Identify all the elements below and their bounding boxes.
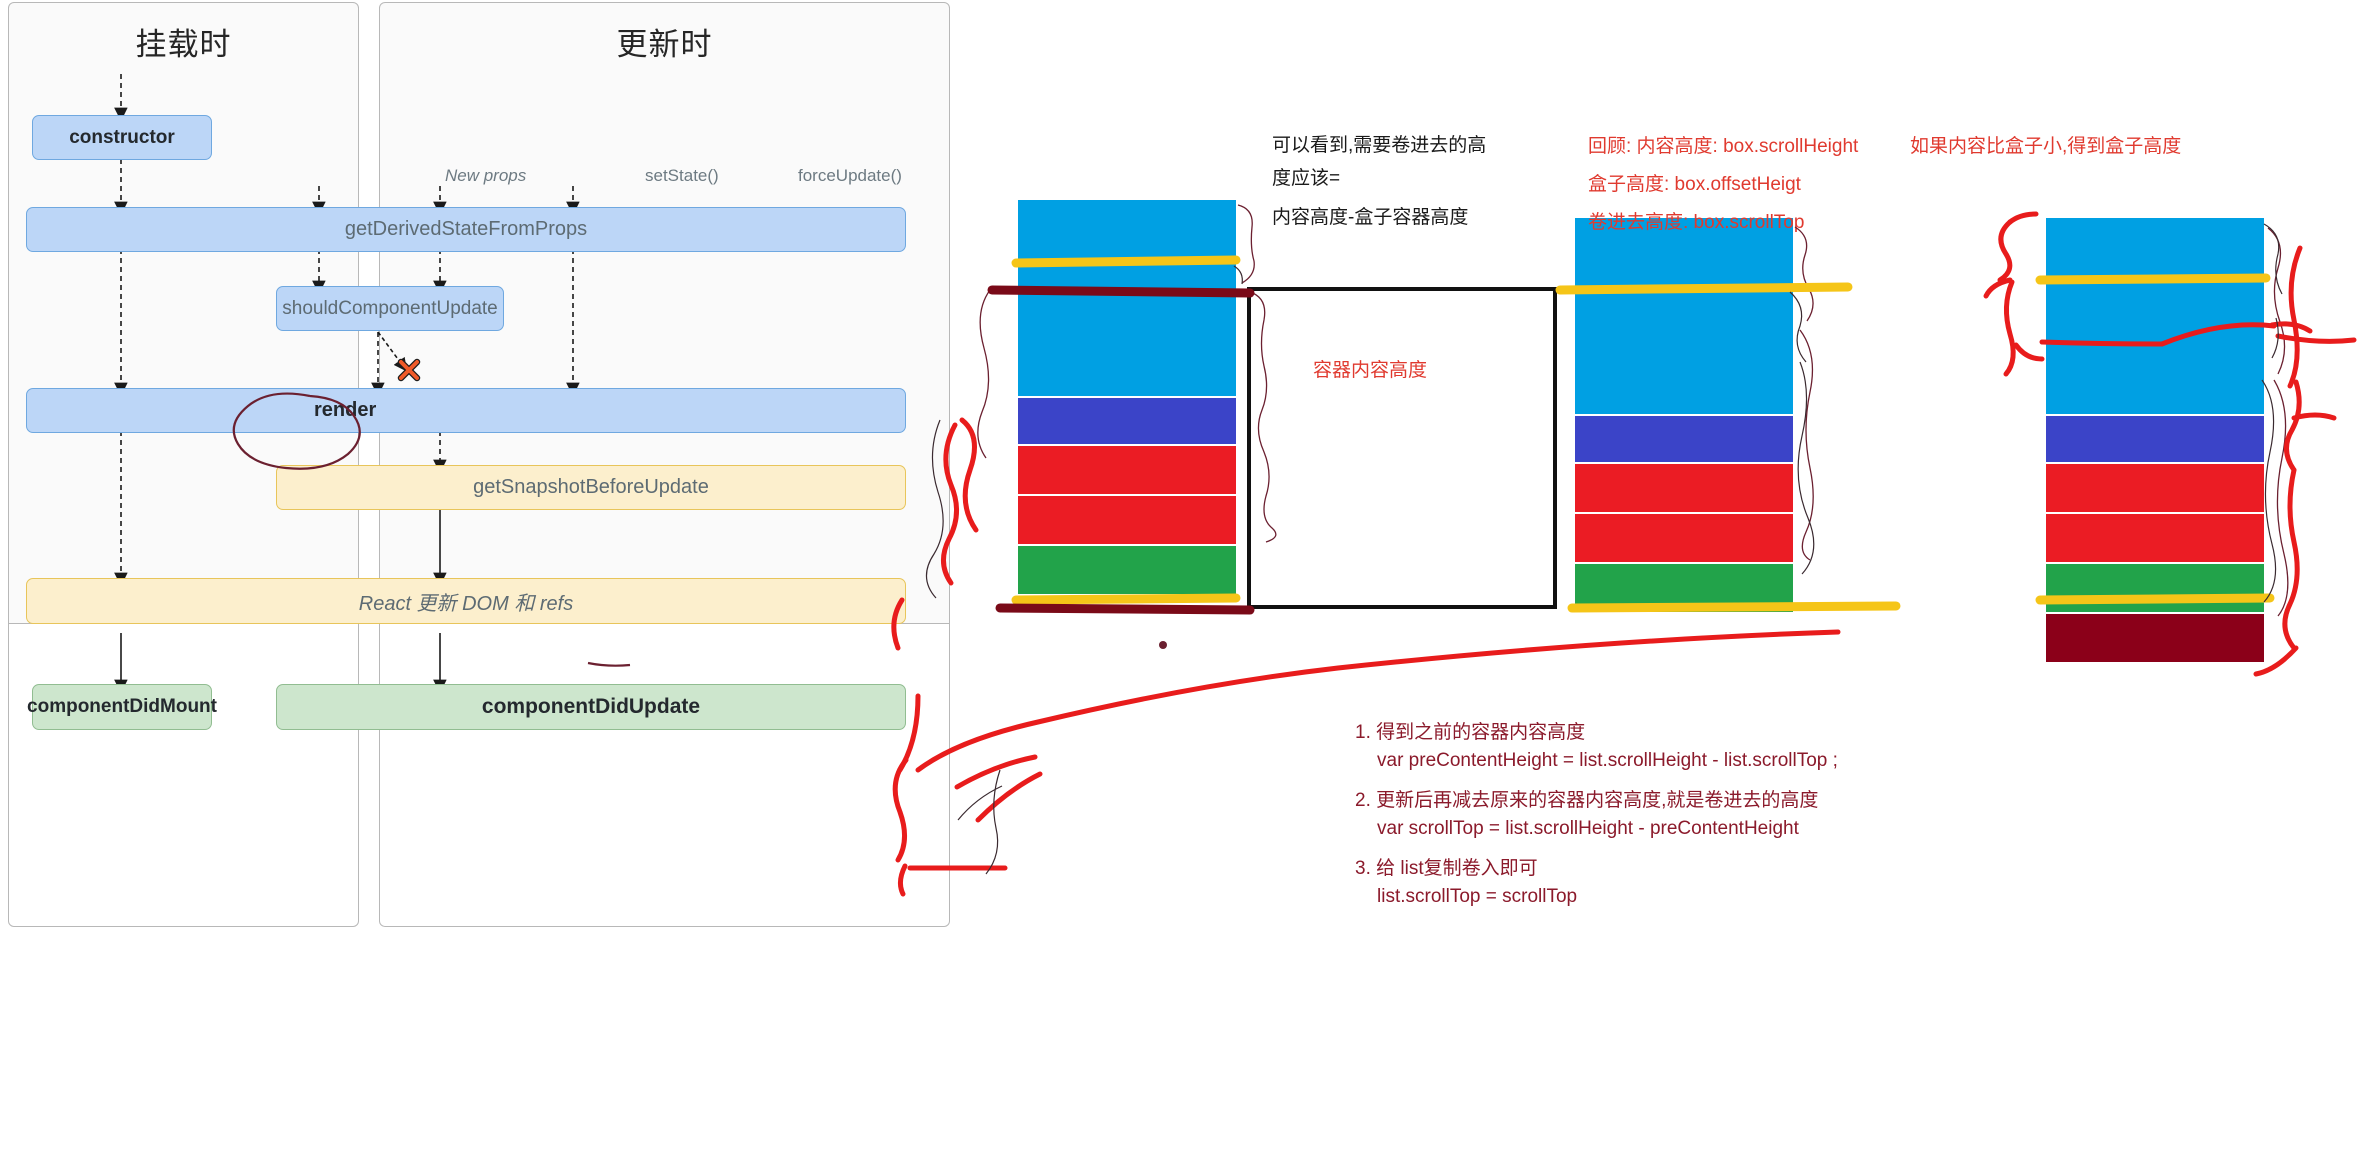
stack-segment-green: [1575, 564, 1793, 612]
black-note-line-3: 内容高度-盒子容器高度: [1272, 202, 1468, 229]
stack-left: [1018, 200, 1236, 586]
red-note-line-2: 盒子高度: box.offsetHeigt: [1588, 169, 1801, 196]
black-note-line-2: 度应该=: [1272, 163, 1340, 190]
stack-right: [2046, 218, 2264, 652]
stack-middle: [1575, 218, 1793, 604]
node-render[interactable]: render: [26, 388, 906, 433]
red-note-side: 如果内容比盒子小,得到盒子高度: [1910, 131, 2181, 158]
mount-panel-lower-region: [9, 624, 358, 926]
stack-segment-red: [2046, 464, 2264, 512]
node-should-component-update[interactable]: shouldComponentUpdate: [276, 286, 504, 331]
stack-segment-royal_blue: [1575, 416, 1793, 462]
update-panel-lower-region: [380, 624, 949, 926]
ink-dot: [1159, 641, 1167, 649]
trigger-new-props: New props: [445, 166, 526, 186]
stack-segment-red: [1018, 446, 1236, 494]
stack-segment-red: [1575, 514, 1793, 562]
node-react-updates-dom[interactable]: React 更新 DOM 和 refs: [26, 578, 906, 624]
node-constructor[interactable]: constructor: [32, 115, 212, 160]
stack-segment-green: [2046, 564, 2264, 612]
step-1-title: 1. 得到之前的容器内容高度: [1355, 717, 1838, 744]
node-component-did-update[interactable]: componentDidUpdate: [276, 684, 906, 730]
mount-panel-title: 挂载时: [9, 19, 358, 64]
stack-segment-maroon: [2046, 614, 2264, 662]
trigger-force-update: forceUpdate(): [798, 166, 902, 186]
node-component-did-mount[interactable]: componentDidMount: [32, 684, 212, 730]
step-1-code: var preContentHeight = list.scrollHeight…: [1355, 750, 1838, 772]
stack-segment-cyan: [1575, 218, 1793, 414]
red-note-line-3: 卷进去高度: box.scrollTop: [1588, 207, 1804, 234]
cross-icon: [396, 357, 422, 383]
stack-segment-red: [1018, 496, 1236, 544]
stack-segment-royal_blue: [2046, 416, 2264, 462]
node-get-snapshot-before-update[interactable]: getSnapshotBeforeUpdate: [276, 465, 906, 510]
stack-segment-cyan: [2046, 218, 2264, 414]
steps-list: 1. 得到之前的容器内容高度 var preContentHeight = li…: [1355, 717, 1838, 921]
stack-segment-red: [2046, 514, 2264, 562]
container-height-label: 容器内容高度: [1313, 355, 1427, 382]
step-3-code: list.scrollTop = scrollTop: [1355, 886, 1838, 908]
trigger-set-state: setState(): [645, 166, 719, 186]
step-2-code: var scrollTop = list.scrollHeight - preC…: [1355, 818, 1838, 840]
node-get-derived-state-from-props[interactable]: getDerivedStateFromProps: [26, 207, 906, 252]
react-lifecycle-diagram: 挂载时 更新时 New props setState() forceUpdate…: [8, 2, 950, 927]
stack-segment-green: [1018, 546, 1236, 594]
stack-segment-royal_blue: [1018, 398, 1236, 444]
update-panel-title: 更新时: [380, 19, 949, 64]
red-note-line-1: 回顾: 内容高度: box.scrollHeight: [1588, 131, 1858, 158]
container-box-outline: [1247, 287, 1557, 609]
step-3-title: 3. 给 list复制卷入即可: [1355, 853, 1838, 880]
black-note-line-1: 可以看到,需要卷进去的高: [1272, 130, 1486, 157]
step-2-title: 2. 更新后再减去原来的容器内容高度,就是卷进去的高度: [1355, 785, 1838, 812]
stack-segment-red: [1575, 464, 1793, 512]
stack-segment-cyan: [1018, 200, 1236, 396]
